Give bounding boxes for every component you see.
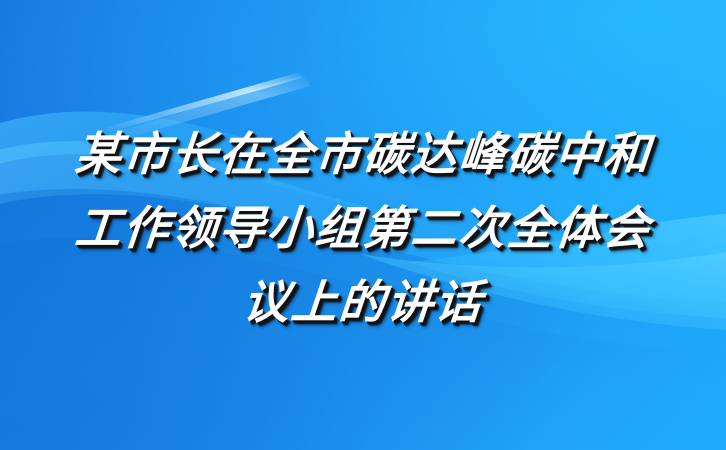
title-line-2: 工作领导小组第二次全体会 (72, 192, 654, 266)
title-line-3: 议上的讲话 (240, 266, 486, 340)
title-line-1: 某市长在全市碳达峰碳中和 (72, 118, 654, 192)
title-block: 某市长在全市碳达峰碳中和 工作领导小组第二次全体会 议上的讲话 (0, 0, 726, 450)
cover-banner: 某市长在全市碳达峰碳中和 工作领导小组第二次全体会 议上的讲话 (0, 0, 726, 450)
